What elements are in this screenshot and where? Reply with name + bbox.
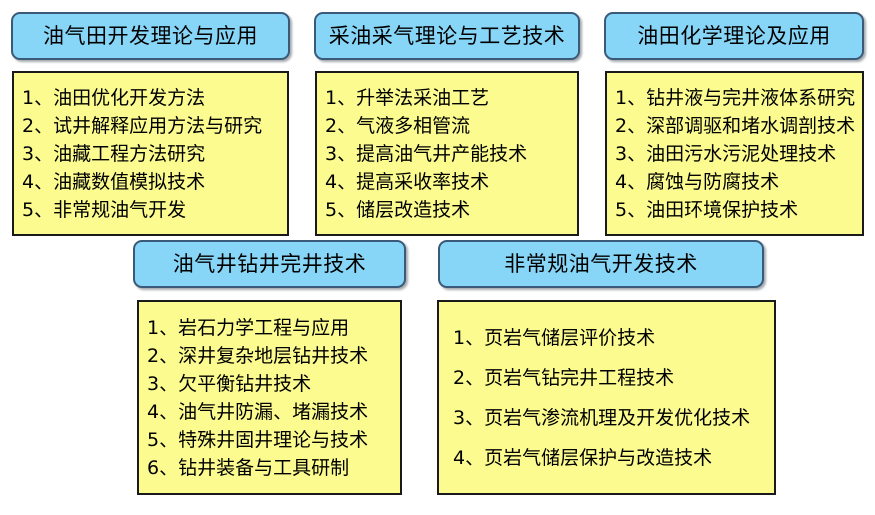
list-item: 1、升举法采油工艺 <box>325 84 577 112</box>
group-body-oilfield-chemistry: 1、钻井液与完井液体系研究 2、深部调驱和堵水调剖技术 3、油田污水污泥处理技术… <box>605 71 864 236</box>
group-body-oil-gas-field-development: 1、油田优化开发方法 2、试井解释应用方法与研究 3、油藏工程方法研究 4、油藏… <box>12 71 289 236</box>
diagram-canvas: 油气田开发理论与应用 1、油田优化开发方法 2、试井解释应用方法与研究 3、油藏… <box>0 0 875 515</box>
list-item: 1、页岩气储层评价技术 <box>453 318 774 358</box>
list-item: 6、钻井装备与工具研制 <box>147 454 400 482</box>
group-header-label: 油气田开发理论与应用 <box>43 26 258 47</box>
list-item: 3、页岩气渗流机理及开发优化技术 <box>453 398 774 438</box>
list-item: 2、深井复杂地层钻井技术 <box>147 342 400 370</box>
list-item: 5、储层改造技术 <box>325 196 577 224</box>
group-body-oil-gas-production: 1、升举法采油工艺 2、气液多相管流 3、提高油气井产能技术 4、提高采收率技术… <box>315 71 579 236</box>
group-header-oil-gas-production[interactable]: 采油采气理论与工艺技术 <box>314 12 580 60</box>
list-item: 3、油田污水污泥处理技术 <box>615 140 862 168</box>
list-item: 2、深部调驱和堵水调剖技术 <box>615 112 862 140</box>
list-item: 5、特殊井固井理论与技术 <box>147 426 400 454</box>
group-header-label: 采油采气理论与工艺技术 <box>329 26 566 47</box>
list-item: 2、试井解释应用方法与研究 <box>22 112 287 140</box>
list-item: 3、欠平衡钻井技术 <box>147 370 400 398</box>
group-header-drilling-completion[interactable]: 油气井钻井完井技术 <box>133 240 406 288</box>
list-item: 4、油气井防漏、堵漏技术 <box>147 398 400 426</box>
list-item: 1、岩石力学工程与应用 <box>147 314 400 342</box>
list-item: 4、页岩气储层保护与改造技术 <box>453 438 774 478</box>
group-header-label: 非常规油气开发技术 <box>504 254 698 275</box>
list-item: 2、气液多相管流 <box>325 112 577 140</box>
list-item: 1、油田优化开发方法 <box>22 84 287 112</box>
group-header-label: 油田化学理论及应用 <box>637 26 831 47</box>
group-header-unconventional-oil-gas[interactable]: 非常规油气开发技术 <box>438 240 764 288</box>
group-header-oil-gas-field-development[interactable]: 油气田开发理论与应用 <box>11 12 290 60</box>
group-body-drilling-completion: 1、岩石力学工程与应用 2、深井复杂地层钻井技术 3、欠平衡钻井技术 4、油气井… <box>137 300 402 495</box>
list-item: 3、油藏工程方法研究 <box>22 140 287 168</box>
list-item: 1、钻井液与完井液体系研究 <box>615 84 862 112</box>
group-header-label: 油气井钻井完井技术 <box>173 254 367 275</box>
list-item: 4、腐蚀与防腐技术 <box>615 168 862 196</box>
list-item: 5、非常规油气开发 <box>22 196 287 224</box>
list-item: 3、提高油气井产能技术 <box>325 140 577 168</box>
group-body-unconventional-oil-gas: 1、页岩气储层评价技术 2、页岩气钻完井工程技术 3、页岩气渗流机理及开发优化技… <box>437 300 776 495</box>
list-item: 4、提高采收率技术 <box>325 168 577 196</box>
list-item: 5、油田环境保护技术 <box>615 196 862 224</box>
list-item: 2、页岩气钻完井工程技术 <box>453 358 774 398</box>
group-header-oilfield-chemistry[interactable]: 油田化学理论及应用 <box>604 12 864 60</box>
list-item: 4、油藏数值模拟技术 <box>22 168 287 196</box>
